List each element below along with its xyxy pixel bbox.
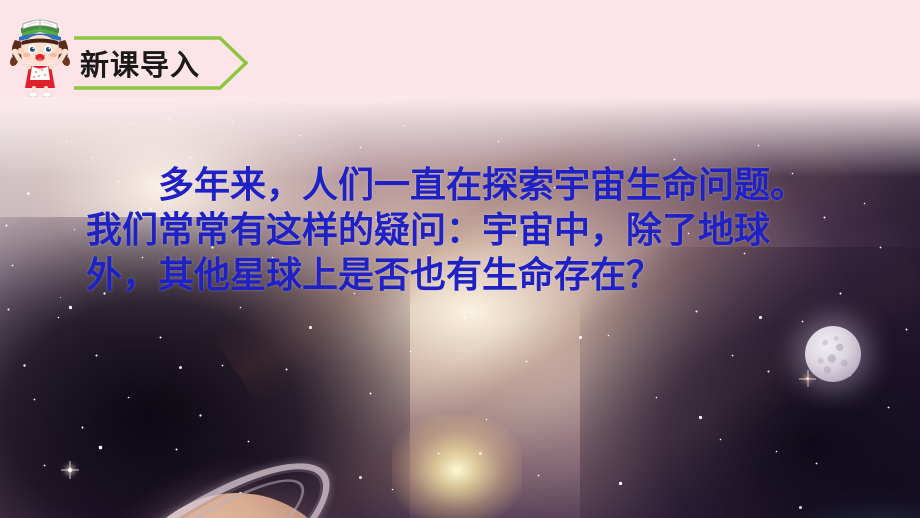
- saturn-planet: [12, 415, 352, 518]
- mascot-girl-icon: [8, 6, 72, 97]
- slide-canvas: 新课导入 多年来，人们一直在探索宇宙生命问题。我们常常有这样的疑问：宇宙中，除了…: [0, 0, 920, 518]
- galaxy-core-glow: [392, 415, 522, 518]
- moon: [805, 326, 861, 382]
- space-background: [0, 97, 920, 518]
- starfield-bright: [60, 297, 61, 298]
- saturn-ring-outer: [28, 429, 356, 518]
- bright-star-icon: [806, 377, 809, 380]
- header-band: 新课导入: [0, 0, 920, 97]
- starfield-right: [340, 107, 341, 108]
- lesson-intro-paragraph: 多年来，人们一直在探索宇宙生命问题。我们常常有这样的疑问：宇宙中，除了地球外，其…: [86, 163, 836, 298]
- section-banner-label: 新课导入: [80, 38, 240, 88]
